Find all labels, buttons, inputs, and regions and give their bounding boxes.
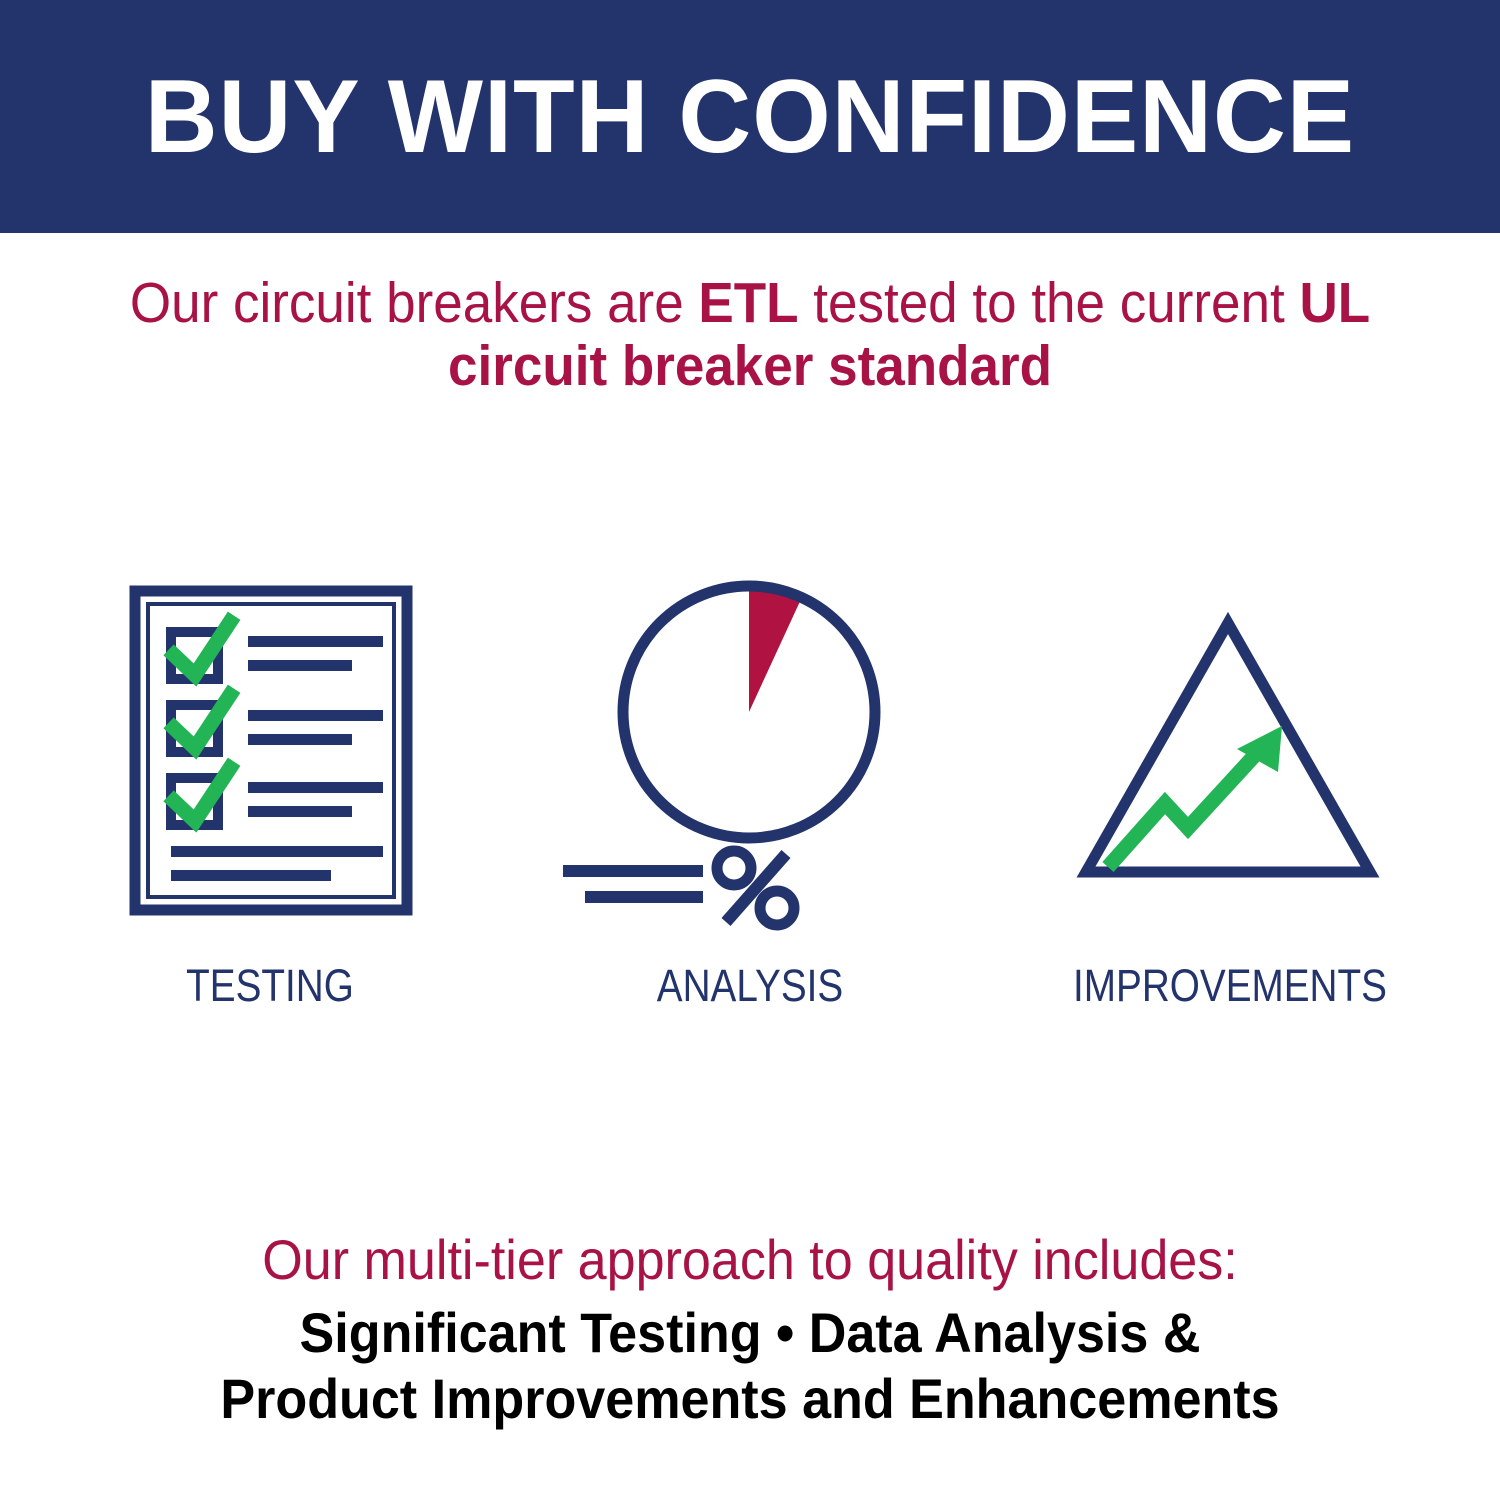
triangle-growth-arrow-icon	[1020, 560, 1440, 940]
footer-text-block: Our multi-tier approach to quality inclu…	[50, 1228, 1450, 1432]
infographic-page: BUY WITH CONFIDENCE Our circuit breakers…	[0, 0, 1500, 1500]
icon-row: TESTING	[0, 560, 1500, 1060]
icon-label-analysis: ANALYSIS	[569, 960, 930, 1012]
icon-label-improvements: IMPROVEMENTS	[1049, 960, 1410, 1012]
footer-body: Significant Testing • Data Analysis & Pr…	[99, 1300, 1401, 1432]
subtitle-emphasis-etl: ETL	[698, 271, 798, 335]
icon-column-testing: TESTING	[60, 560, 480, 1060]
subtitle-part-2: tested to the current	[799, 271, 1300, 335]
icon-column-improvements: IMPROVEMENTS	[1020, 560, 1440, 1060]
subtitle-part-1: Our circuit breakers are	[130, 271, 699, 335]
page-title: BUY WITH CONFIDENCE	[145, 65, 1355, 169]
footer-body-line-2: Product Improvements and Enhancements	[99, 1366, 1401, 1432]
footer-body-line-1: Significant Testing • Data Analysis &	[99, 1300, 1401, 1366]
checklist-icon	[60, 560, 480, 940]
pie-chart-percent-icon	[540, 560, 960, 940]
footer-lead-line: Our multi-tier approach to quality inclu…	[99, 1228, 1401, 1292]
icon-label-testing: TESTING	[89, 960, 450, 1012]
header-banner: BUY WITH CONFIDENCE	[0, 0, 1500, 233]
subtitle-text: Our circuit breakers are ETL tested to t…	[108, 272, 1391, 398]
icon-column-analysis: ANALYSIS	[540, 560, 960, 1060]
